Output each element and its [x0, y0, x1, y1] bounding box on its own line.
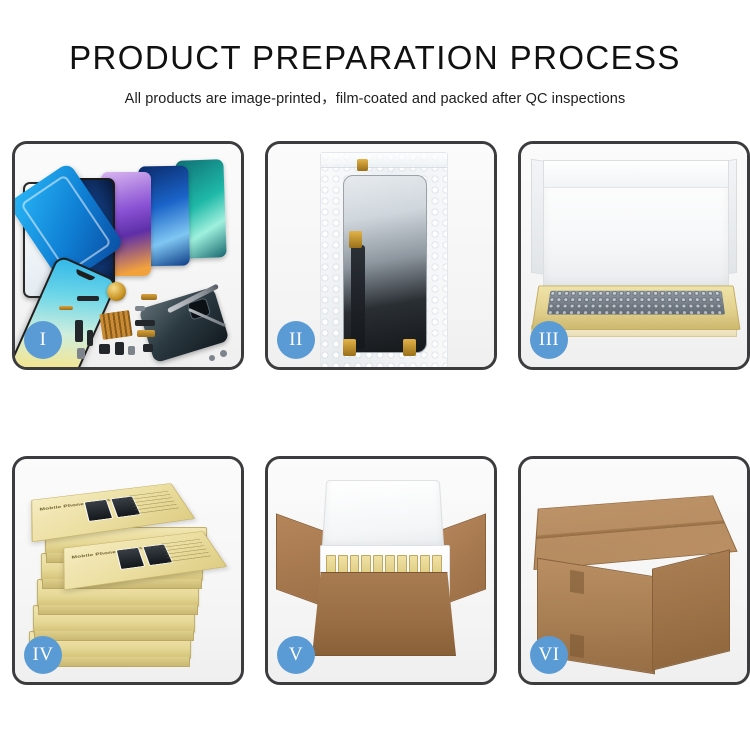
step-badge-4: IV [24, 636, 62, 674]
process-step-grid: I II III [12, 141, 738, 685]
bubble-wrapped-contents [547, 291, 725, 315]
speaker-module-icon [107, 282, 126, 301]
part-bit [141, 294, 157, 300]
process-step-panel-5[interactable]: V [265, 456, 497, 685]
connector-icon [343, 339, 356, 356]
step-badge-2: II [277, 321, 315, 359]
connector-icon [349, 231, 362, 248]
process-step-panel-3[interactable]: III [518, 141, 750, 370]
process-step-panel-1[interactable]: I [12, 141, 244, 370]
carton-tape [570, 634, 584, 658]
box-stack-icon: Mobile Phone Spare Parts Mobile Phone Sp… [27, 481, 235, 667]
part-bit [115, 342, 124, 355]
page-subtitle: All products are image-printed，film-coat… [0, 87, 750, 108]
bubble-wrap-bag-icon [320, 152, 448, 368]
process-step-panel-2[interactable]: II [265, 141, 497, 370]
part-bit [59, 306, 73, 310]
screw-icon [209, 355, 215, 361]
flex-cable-icon [351, 245, 365, 349]
screw-icon [220, 350, 227, 357]
connector-icon [357, 159, 368, 171]
process-step-panel-6[interactable]: VI [518, 456, 750, 685]
part-bit [128, 346, 135, 355]
part-bit [77, 348, 85, 359]
connector-icon [403, 339, 416, 356]
page-title: PRODUCT PREPARATION PROCESS [0, 38, 750, 78]
kraft-box-tray-icon [531, 285, 740, 330]
step-badge-3: III [530, 321, 568, 359]
part-bit [77, 296, 99, 301]
process-step-panel-4[interactable]: Mobile Phone Spare Parts Mobile Phone Sp… [12, 456, 244, 685]
part-bit [135, 306, 145, 311]
white-box-lid-icon [543, 160, 729, 290]
carton-tape [570, 570, 584, 594]
page-header: PRODUCT PREPARATION PROCESS All products… [0, 38, 750, 108]
carton-side-face [652, 549, 730, 670]
part-bit [99, 344, 110, 354]
part-bit [87, 330, 93, 346]
part-bit [75, 320, 83, 342]
carton-body-icon [312, 572, 456, 656]
step-badge-6: VI [530, 636, 568, 674]
step-badge-1: I [24, 321, 62, 359]
part-bit [137, 330, 155, 337]
part-bit [143, 344, 153, 352]
foam-lid-icon [322, 480, 445, 550]
part-bit [135, 320, 155, 326]
step-badge-5: V [277, 636, 315, 674]
chip-board-icon [99, 310, 132, 340]
bag-seal [321, 153, 447, 168]
